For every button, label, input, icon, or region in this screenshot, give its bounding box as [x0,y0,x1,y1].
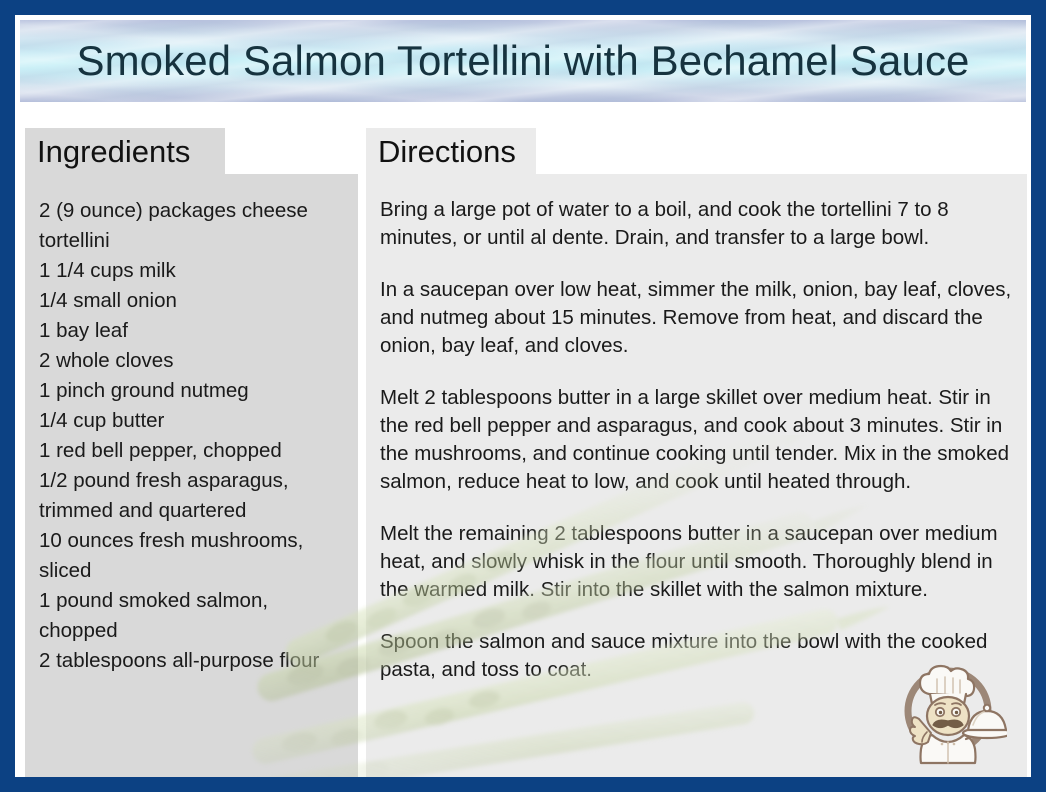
directions-heading-label: Directions [378,136,516,167]
title-banner: Smoked Salmon Tortellini with Bechamel S… [20,20,1026,102]
ingredient-item: 1 bay leaf [39,316,344,346]
ingredient-item: 1 1/4 cups milk [39,256,344,286]
ingredient-item: 1/4 small onion [39,286,344,316]
ingredient-item: 2 tablespoons all-purpose flour [39,646,344,676]
ingredient-item: 1/2 pound fresh asparagus, trimmed and q… [39,466,344,526]
ingredient-item: 2 whole cloves [39,346,344,376]
chef-logo-icon [889,649,1007,767]
ingredients-heading-tab: Ingredients [25,128,225,174]
direction-step: Melt 2 tablespoons butter in a large ski… [380,384,1013,496]
ingredients-heading-label: Ingredients [37,136,190,167]
direction-step: Melt the remaining 2 tablespoons butter … [380,520,1013,604]
page-title: Smoked Salmon Tortellini with Bechamel S… [76,40,969,82]
ingredients-panel: 2 (9 ounce) packages cheese tortellini1 … [25,174,358,782]
directions-steps: Bring a large pot of water to a boil, an… [380,196,1013,684]
ingredient-item: 2 (9 ounce) packages cheese tortellini [39,196,344,256]
direction-step: In a saucepan over low heat, simmer the … [380,276,1013,360]
ingredient-item: 1/4 cup butter [39,406,344,436]
ingredient-item: 1 pound smoked salmon, chopped [39,586,344,646]
ingredient-item: 1 red bell pepper, chopped [39,436,344,466]
ingredient-item: 10 ounces fresh mushrooms, sliced [39,526,344,586]
recipe-card: Smoked Salmon Tortellini with Bechamel S… [0,0,1046,792]
direction-step: Bring a large pot of water to a boil, an… [380,196,1013,252]
ingredient-item: 1 pinch ground nutmeg [39,376,344,406]
ingredients-list: 2 (9 ounce) packages cheese tortellini1 … [39,196,344,676]
directions-heading-tab: Directions [366,128,536,174]
